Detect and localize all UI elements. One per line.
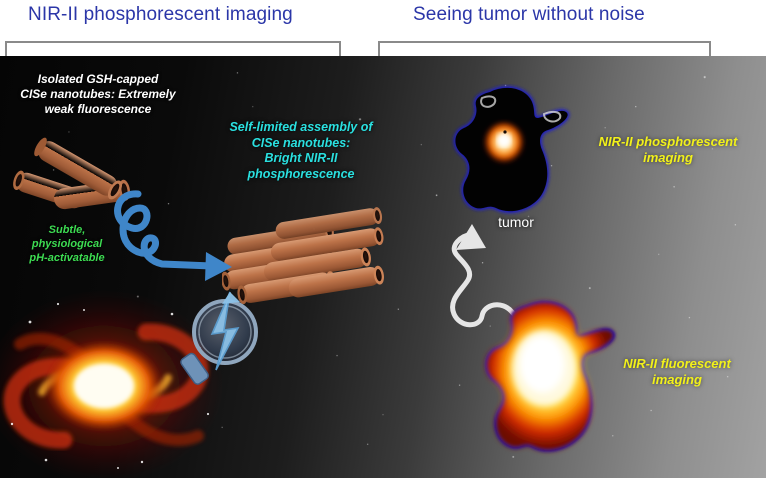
blue-squiggly-arrow-icon — [108, 188, 243, 292]
spiral-galaxy-graphic — [0, 274, 236, 478]
figure-canvas: Isolated GSH-capped CISe nanotubes: Extr… — [0, 56, 766, 478]
header-band: NIR-II phosphorescent imaging Seeing tum… — [0, 0, 766, 56]
annotation-ph-activatable: Subtle, physiological pH-activatable — [8, 224, 126, 265]
tumor-label: tumor — [481, 214, 551, 230]
isolated-nanotubes-graphic — [8, 132, 148, 224]
white-squiggly-arrow-icon — [438, 214, 572, 336]
annotation-fluorescent-imaging: NIR-II fluorescent imaging — [592, 356, 762, 389]
header-title-left: NIR-II phosphorescent imaging — [28, 4, 293, 26]
dark-mouse-phosphorescent-image — [448, 84, 582, 220]
annotation-isolated-nanotubes: Isolated GSH-capped CISe nanotubes: Extr… — [6, 72, 190, 117]
assembled-nanotube-bundle-graphic — [222, 196, 400, 304]
bracket-left — [5, 41, 341, 56]
annotation-phosphorescent-imaging: NIR-II phosphorescent imaging — [578, 134, 758, 167]
bracket-right — [378, 41, 711, 56]
graphical-abstract-figure: NIR-II phosphorescent imaging Seeing tum… — [0, 0, 766, 478]
magnifying-lens-icon — [178, 288, 262, 394]
header-title-right: Seeing tumor without noise — [413, 4, 645, 26]
annotation-self-limited-assembly: Self-limited assembly of CISe nanotubes:… — [210, 120, 392, 183]
